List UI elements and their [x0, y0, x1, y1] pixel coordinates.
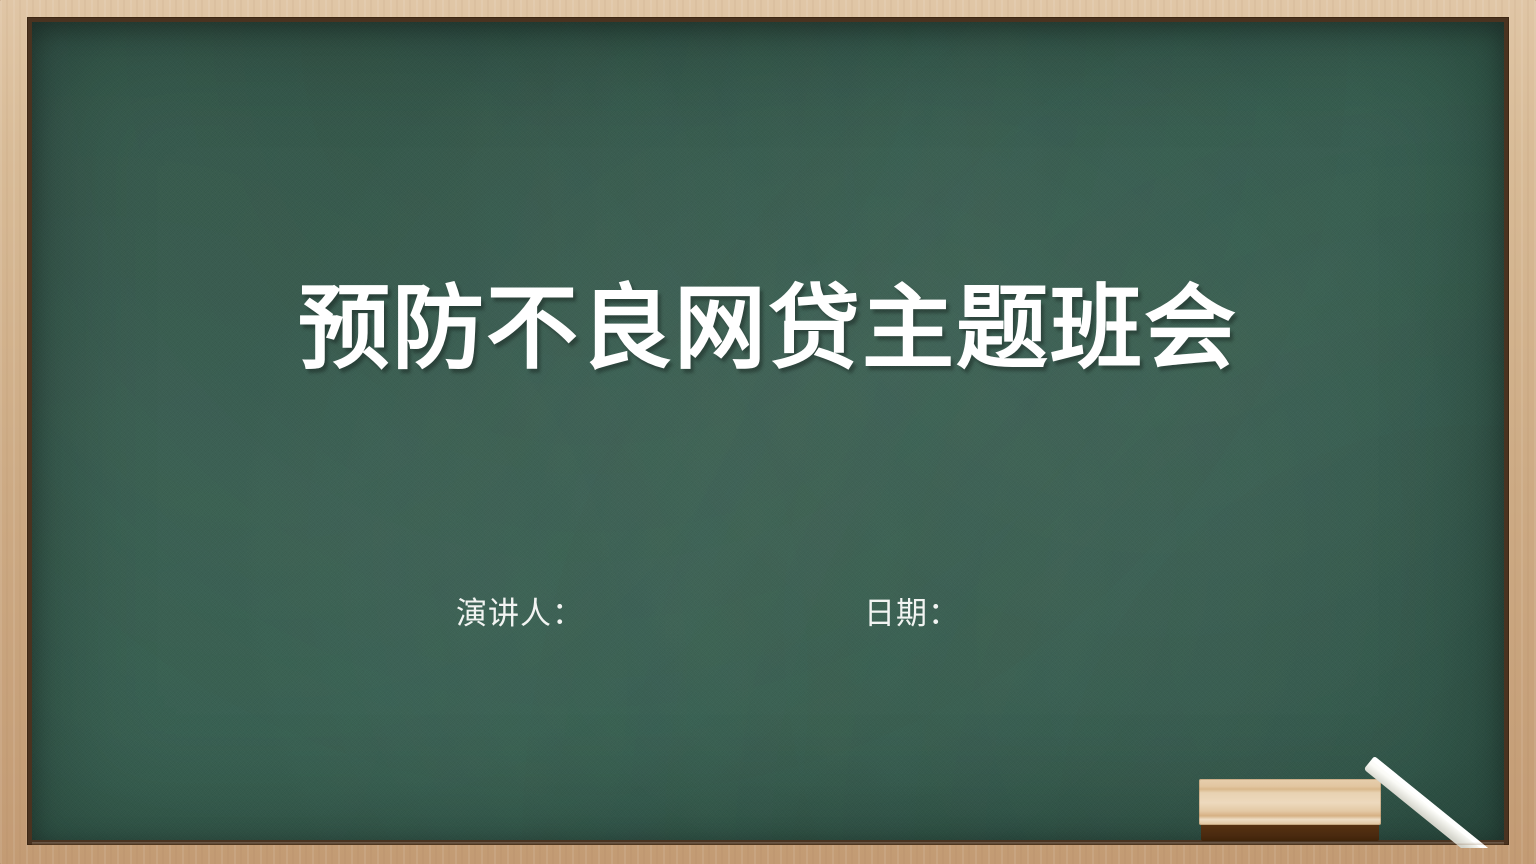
chalkboard-surface — [32, 22, 1504, 840]
slide-title: 预防不良网贷主题班会 — [0, 278, 1536, 379]
frame-ledge-highlight — [32, 842, 1504, 845]
presenter-field[interactable]: 演讲人： — [456, 588, 704, 633]
eraser-body — [1199, 779, 1381, 825]
board-vignette — [32, 22, 1504, 840]
presenter-label: 演讲人： — [456, 588, 584, 633]
slide-canvas: 预防不良网贷主题班会 演讲人： 日期： — [0, 0, 1536, 864]
slide-byline: 演讲人： 日期： — [0, 588, 1536, 633]
date-label: 日期： — [864, 588, 960, 633]
chalkboard-inner-reveal — [27, 17, 1509, 845]
chalkboard-eraser-icon — [1199, 779, 1381, 825]
date-field[interactable]: 日期： — [864, 588, 1080, 633]
